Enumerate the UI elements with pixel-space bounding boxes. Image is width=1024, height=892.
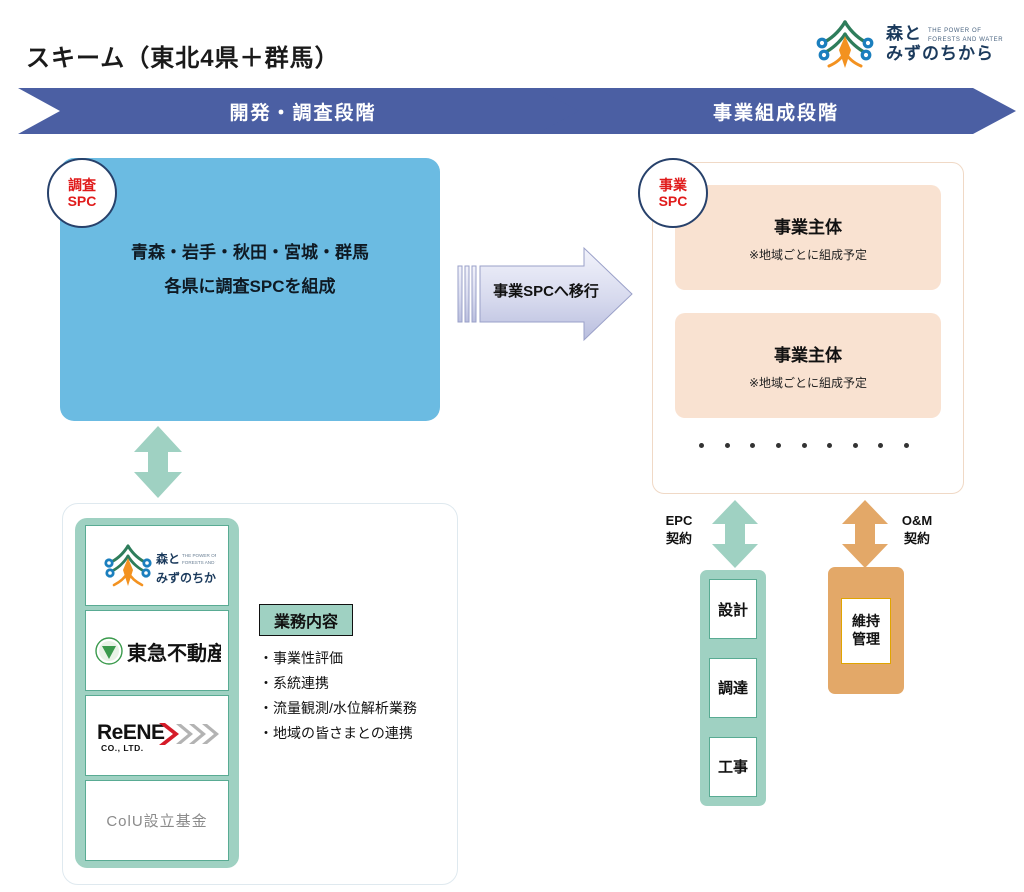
page-title: スキーム（東北4県＋群馬） — [26, 38, 340, 73]
forest-water-logo-icon — [812, 16, 878, 72]
brand-tagline-line2: FORESTS AND WATER — [928, 37, 1003, 43]
colu-fund-label: ColU設立基金 — [106, 810, 207, 831]
member-logo-cell: ReENE CO., LTD. — [85, 695, 229, 776]
brand-line1: 森と — [886, 24, 922, 44]
om-scope-item-line2: 管理 — [852, 631, 880, 649]
epc-scope-item: 工事 — [709, 737, 757, 797]
business-entity-card: 事業主体 ※地域ごとに組成予定 — [675, 185, 941, 290]
business-entity-note: ※地域ごとに組成予定 — [749, 374, 867, 391]
duties-section: 業務内容 ・事業性評価 ・系統連携 ・流量観測/水位解析業務 ・地域の皆さまとの… — [259, 604, 445, 746]
epc-scope-item: 設計 — [709, 579, 757, 639]
om-contract-label-line1: O&M — [890, 512, 944, 530]
phase-banner-development-label: 開発・調査段階 — [229, 98, 376, 125]
om-contract-label-line2: 契約 — [890, 530, 944, 548]
om-contract-label: O&M 契約 — [890, 512, 944, 547]
epc-scope-column: 設計 調達 工事 — [700, 570, 766, 806]
survey-spc-line2: 各県に調査SPCを組成 — [60, 270, 440, 304]
business-entity-title: 事業主体 — [774, 341, 842, 366]
member-logo-cell: 森と THE POWER OF FORESTS AND WATER みずのちから — [85, 525, 229, 606]
svg-text:THE POWER OF: THE POWER OF — [182, 553, 216, 558]
duties-item: ・地域の皆さまとの連携 — [259, 721, 445, 746]
business-spc-badge-line2: SPC — [659, 193, 688, 209]
double-arrow-vertical-icon — [708, 498, 762, 570]
survey-spc-text: 青森・岩手・秋田・宮城・群馬 各県に調査SPCを組成 — [60, 236, 440, 304]
phase-banner-formation-label: 事業組成段階 — [713, 98, 839, 125]
member-panel: 森と THE POWER OF FORESTS AND WATER みずのちから… — [62, 503, 458, 885]
reene-logo-icon: ReENE CO., LTD. — [93, 715, 221, 757]
transition-arrow-label: 事業SPCへ移行 — [480, 280, 612, 301]
om-scope-column: 維持 管理 — [828, 567, 904, 694]
tokyu-land-logo-icon: 東急不動産 — [93, 634, 221, 668]
epc-scope-item: 調達 — [709, 658, 757, 718]
svg-text:ReENE: ReENE — [97, 721, 165, 744]
om-scope-item-line1: 維持 — [852, 613, 880, 631]
survey-spc-line1: 青森・岩手・秋田・宮城・群馬 — [60, 236, 440, 270]
epc-contract-label: EPC 契約 — [652, 512, 706, 547]
phase-banner-development: 開発・調査段階 — [18, 88, 588, 134]
duties-item: ・流量観測/水位解析業務 — [259, 696, 445, 721]
svg-text:FORESTS AND WATER: FORESTS AND WATER — [182, 560, 216, 565]
survey-spc-badge: 調査 SPC — [47, 158, 117, 228]
business-entity-note: ※地域ごとに組成予定 — [749, 246, 867, 263]
business-entity-card: 事業主体 ※地域ごとに組成予定 — [675, 313, 941, 418]
om-scope-item: 維持 管理 — [841, 598, 891, 664]
double-arrow-vertical-icon — [130, 424, 186, 500]
phase-banner-formation: 事業組成段階 — [536, 88, 1016, 134]
member-logo-stack: 森と THE POWER OF FORESTS AND WATER みずのちから… — [75, 518, 239, 868]
svg-text:みずのちから: みずのちから — [156, 570, 216, 585]
transition-arrow: 事業SPCへ移行 — [456, 244, 636, 344]
duties-item: ・系統連携 — [259, 671, 445, 696]
member-logo-cell: 東急不動産 — [85, 610, 229, 691]
svg-text:東急不動産: 東急不動産 — [127, 641, 221, 665]
brand-tagline-line1: THE POWER OF — [928, 28, 982, 34]
om-contract-arrow — [838, 498, 892, 570]
duties-list: ・事業性評価 ・系統連携 ・流量観測/水位解析業務 ・地域の皆さまとの連携 — [259, 646, 445, 746]
survey-spc-badge-line2: SPC — [68, 193, 97, 209]
member-logo-cell: ColU設立基金 — [85, 780, 229, 861]
brand-line2: みずのちから — [886, 44, 1003, 64]
epc-contract-label-line1: EPC — [652, 512, 706, 530]
business-spc-badge: 事業 SPC — [638, 158, 708, 228]
double-arrow-vertical-icon — [838, 498, 892, 570]
svg-text:CO., LTD.: CO., LTD. — [101, 743, 144, 753]
duties-item: ・事業性評価 — [259, 646, 445, 671]
brand-wordmark: 森と THE POWER OF FORESTS AND WATER みずのちから — [886, 24, 1003, 63]
epc-contract-label-line2: 契約 — [652, 530, 706, 548]
forest-water-logo-icon: 森と THE POWER OF FORESTS AND WATER みずのちから — [98, 539, 216, 593]
business-spc-badge-line1: 事業 — [659, 177, 687, 193]
brand-logo: 森と THE POWER OF FORESTS AND WATER みずのちから — [812, 14, 1012, 74]
business-entity-continuation-dots — [699, 443, 909, 448]
survey-member-link-arrow — [130, 424, 186, 500]
survey-spc-badge-line1: 調査 — [68, 177, 96, 193]
business-entity-title: 事業主体 — [774, 213, 842, 238]
svg-text:森と: 森と — [156, 551, 180, 566]
survey-spc-box: 青森・岩手・秋田・宮城・群馬 各県に調査SPCを組成 — [60, 158, 440, 421]
epc-contract-arrow — [708, 498, 762, 570]
duties-title: 業務内容 — [259, 604, 353, 636]
